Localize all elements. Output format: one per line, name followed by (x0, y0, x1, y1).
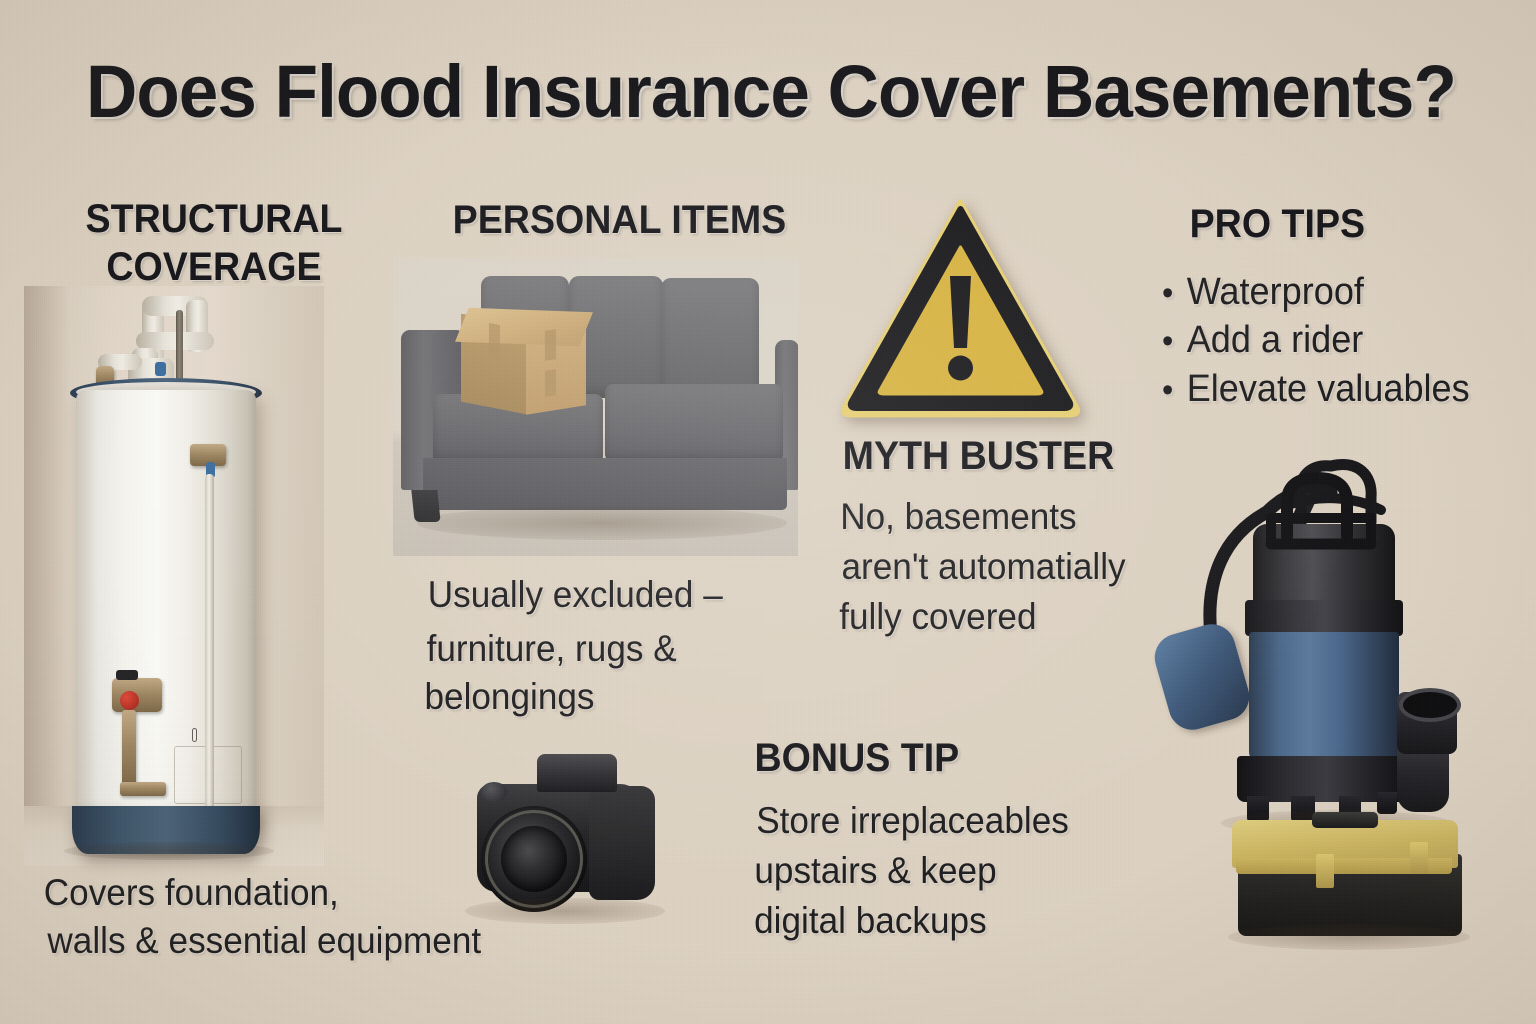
camera-image (455, 742, 680, 932)
toolbox-latch-right (1410, 842, 1428, 874)
structural-heading-line1: STRUCTURAL (73, 197, 355, 242)
heater-label-mark (192, 728, 197, 742)
protips-bullet-2: Elevate valuables (1162, 365, 1470, 413)
toolbox-floor-shadow (1228, 924, 1470, 950)
heater-ground-shadow (64, 842, 274, 860)
page-title: Does Flood Insurance Cover Basements? (86, 55, 1456, 129)
sump-pump-image (1135, 440, 1535, 850)
heater-drain-tube (205, 474, 214, 814)
structural-caption-line2: walls & essential equipment (47, 920, 481, 963)
warning-triangle-icon (838, 196, 1083, 418)
toolbox-image (1228, 806, 1478, 951)
box-tape-front-top (545, 329, 556, 361)
myth-caption-line3: fully covered (839, 596, 1036, 639)
heater-red-knob (120, 691, 139, 710)
bonus-caption-line2: upstairs & keep (754, 850, 996, 893)
heater-thermostat-tab (116, 670, 138, 680)
camera-mode-dial (481, 782, 507, 802)
camera-grip (589, 786, 655, 900)
sofa-floor-shadow (417, 506, 787, 540)
personal-caption-line3: belongings (424, 676, 594, 719)
personal-caption-line1: Usually excluded – (428, 574, 723, 617)
infographic-canvas: Does Flood Insurance Cover Basements? ST… (0, 0, 1536, 1024)
heater-burner-tube (122, 710, 136, 786)
protips-bullet-1: Add a rider (1162, 316, 1470, 364)
sofa-image (393, 258, 798, 556)
personal-heading: PERSONAL ITEMS (453, 198, 787, 243)
heater-blue-fitting (155, 362, 166, 376)
box-top-face (455, 308, 593, 346)
box-tape-left (489, 323, 500, 359)
pump-carry-handle (1135, 440, 1535, 850)
camera-prism-hump (537, 754, 617, 792)
protips-heading: PRO TIPS (1190, 202, 1366, 247)
structural-caption-line1: Covers foundation, (44, 872, 339, 915)
camera-floor-shadow (465, 898, 665, 924)
heater-corner-shadow (24, 286, 70, 866)
camera-lens-inner (501, 826, 567, 892)
myth-caption-line2: aren't automatially (841, 546, 1125, 589)
sofa-base-skirt (423, 458, 787, 510)
protips-bullet-0: Waterproof (1162, 268, 1470, 316)
structural-heading-line2: COVERAGE (73, 245, 355, 290)
toolbox-handle (1312, 812, 1378, 828)
toolbox-latch-left (1316, 854, 1334, 888)
water-heater-image (24, 286, 324, 866)
bonus-caption-line1: Store irreplaceables (756, 800, 1069, 843)
myth-caption-line1: No, basements (840, 496, 1076, 539)
sofa-seat-cushion-right (605, 384, 783, 462)
box-tape-front-bottom (545, 369, 556, 397)
personal-caption-line2: furniture, rugs & (427, 628, 677, 671)
heater-burner-base (120, 782, 166, 796)
bonus-caption-line3: digital backups (754, 900, 987, 943)
protips-list: Waterproof Add a rider Elevate valuables (1162, 268, 1486, 413)
bonus-heading: BONUS TIP (755, 736, 960, 781)
myth-heading: MYTH BUSTER (843, 434, 1115, 479)
